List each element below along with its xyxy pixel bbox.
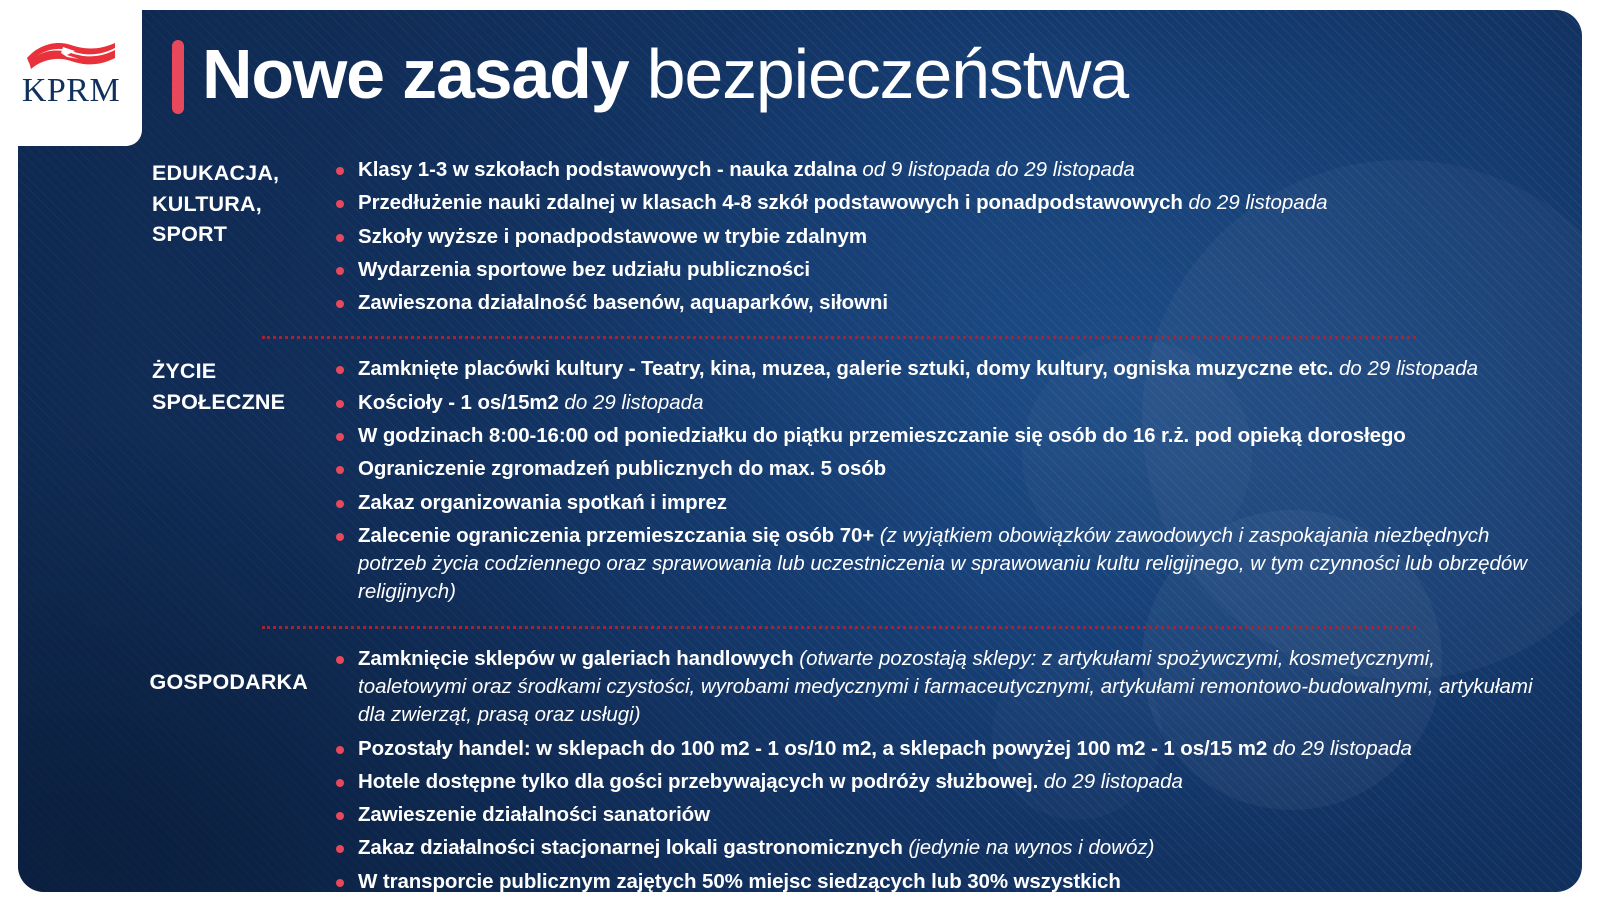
bullet-list-zycie-spoleczne: Zamknięte placówki kultury - Teatry, kin… bbox=[330, 355, 1564, 611]
list-item: Zalecenie ograniczenia przemieszczania s… bbox=[330, 522, 1538, 607]
section-divider bbox=[262, 336, 1416, 339]
bullet-text: Szkoły wyższe i ponadpodstawowe w trybie… bbox=[358, 225, 867, 248]
bullet-note: do 29 listopada bbox=[1188, 191, 1327, 214]
page-title-bold: Nowe zasady bbox=[202, 35, 628, 113]
section-label-line: KULTURA, bbox=[152, 189, 330, 220]
bullet-text: Zakaz działalności stacjonarnej lokali g… bbox=[358, 836, 903, 859]
bullet-note: do 29 listopada bbox=[564, 391, 703, 414]
bullet-text: Zamknięte placówki kultury - Teatry, kin… bbox=[358, 357, 1333, 380]
section-zycie-spoleczne: ŻYCIE SPOŁECZNE Zamknięte placówki kultu… bbox=[0, 355, 1564, 611]
list-item: Hotele dostępne tylko dla gości przebywa… bbox=[330, 768, 1538, 796]
list-item: W godzinach 8:00-16:00 od poniedziałku d… bbox=[330, 422, 1538, 450]
bullet-list-edukacja: Klasy 1-3 w szkołach podstawowych - nauk… bbox=[330, 156, 1564, 322]
kprm-wordmark: KPRM bbox=[22, 74, 120, 108]
section-label-zycie-spoleczne: ŻYCIE SPOŁECZNE bbox=[0, 355, 330, 417]
bullet-text: W transporcie publicznym zajętych 50% mi… bbox=[358, 870, 1121, 893]
list-item: Zawieszona działalność basenów, aquapark… bbox=[330, 289, 1538, 317]
poster-body: EDUKACJA, KULTURA, SPORT Klasy 1-3 w szk… bbox=[0, 152, 1564, 900]
section-label-edukacja: EDUKACJA, KULTURA, SPORT bbox=[0, 156, 330, 250]
list-item: Zamknięte placówki kultury - Teatry, kin… bbox=[330, 355, 1538, 383]
list-item: W transporcie publicznym zajętych 50% mi… bbox=[330, 868, 1538, 896]
bullet-text: Zakaz organizowania spotkań i imprez bbox=[358, 491, 727, 514]
list-item: Zamknięcie sklepów w galeriach handlowyc… bbox=[330, 645, 1538, 730]
section-label-line: ŻYCIE bbox=[152, 356, 330, 387]
section-label-gospodarka: GOSPODARKA bbox=[0, 645, 330, 698]
bullet-text: Zawieszenie działalności sanatoriów bbox=[358, 803, 710, 826]
polish-flag-icon bbox=[23, 38, 119, 72]
bullet-list-gospodarka: Zamknięcie sklepów w galeriach handlowyc… bbox=[330, 645, 1564, 900]
bullet-text: Zalecenie ograniczenia przemieszczania s… bbox=[358, 524, 874, 547]
bullet-text: Kościoły - 1 os/15m2 bbox=[358, 391, 559, 414]
section-label-line: SPOŁECZNE bbox=[152, 387, 330, 418]
page-title: Nowe zasady bezpieczeństwa bbox=[202, 39, 1128, 110]
accent-bar bbox=[172, 40, 184, 114]
bullet-text: W godzinach 8:00-16:00 od poniedziałku d… bbox=[358, 424, 1406, 447]
section-edukacja: EDUKACJA, KULTURA, SPORT Klasy 1-3 w szk… bbox=[0, 156, 1564, 322]
list-item: Zawieszenie działalności sanatoriów bbox=[330, 801, 1538, 829]
kprm-logo-tile: KPRM bbox=[0, 0, 142, 146]
section-gospodarka: GOSPODARKA Zamknięcie sklepów w galeriac… bbox=[0, 645, 1564, 900]
bullet-text: Klasy 1-3 w szkołach podstawowych - nauk… bbox=[358, 158, 857, 181]
section-label-line: SPORT bbox=[152, 219, 330, 250]
bullet-note: do 29 listopada bbox=[1273, 737, 1412, 760]
poster-header: Nowe zasady bezpieczeństwa bbox=[172, 36, 1128, 114]
bullet-text: Hotele dostępne tylko dla gości przebywa… bbox=[358, 770, 1038, 793]
bullet-note: (jedynie na wynos i dowóz) bbox=[908, 836, 1154, 859]
section-label-line: GOSPODARKA bbox=[0, 667, 308, 698]
list-item: Zakaz działalności stacjonarnej lokali g… bbox=[330, 834, 1538, 862]
list-item: Pozostały handel: w sklepach do 100 m2 -… bbox=[330, 735, 1538, 763]
bullet-note: od 9 listopada do 29 listopada bbox=[862, 158, 1134, 181]
section-divider bbox=[262, 626, 1416, 629]
bullet-text: Przedłużenie nauki zdalnej w klasach 4-8… bbox=[358, 191, 1183, 214]
bullet-text: Wydarzenia sportowe bez udziału publiczn… bbox=[358, 258, 810, 281]
bullet-note: do 29 listopada bbox=[1339, 357, 1478, 380]
list-item: Klasy 1-3 w szkołach podstawowych - nauk… bbox=[330, 156, 1538, 184]
list-item: Zakaz organizowania spotkań i imprez bbox=[330, 489, 1538, 517]
page-title-light: bezpieczeństwa bbox=[647, 35, 1128, 113]
list-item: Wydarzenia sportowe bez udziału publiczn… bbox=[330, 256, 1538, 284]
infographic-canvas: KPRM Nowe zasady bezpieczeństwa EDUKACJA… bbox=[0, 0, 1600, 900]
bullet-text: Pozostały handel: w sklepach do 100 m2 -… bbox=[358, 737, 1267, 760]
list-item: Przedłużenie nauki zdalnej w klasach 4-8… bbox=[330, 189, 1538, 217]
list-item: Szkoły wyższe i ponadpodstawowe w trybie… bbox=[330, 223, 1538, 251]
bullet-text: Zawieszona działalność basenów, aquapark… bbox=[358, 291, 888, 314]
bullet-text: Zamknięcie sklepów w galeriach handlowyc… bbox=[358, 647, 794, 670]
bullet-text: Ograniczenie zgromadzeń publicznych do m… bbox=[358, 457, 886, 480]
section-label-line: EDUKACJA, bbox=[152, 158, 330, 189]
list-item: Ograniczenie zgromadzeń publicznych do m… bbox=[330, 455, 1538, 483]
list-item: Kościoły - 1 os/15m2 do 29 listopada bbox=[330, 389, 1538, 417]
bullet-note: do 29 listopada bbox=[1044, 770, 1183, 793]
